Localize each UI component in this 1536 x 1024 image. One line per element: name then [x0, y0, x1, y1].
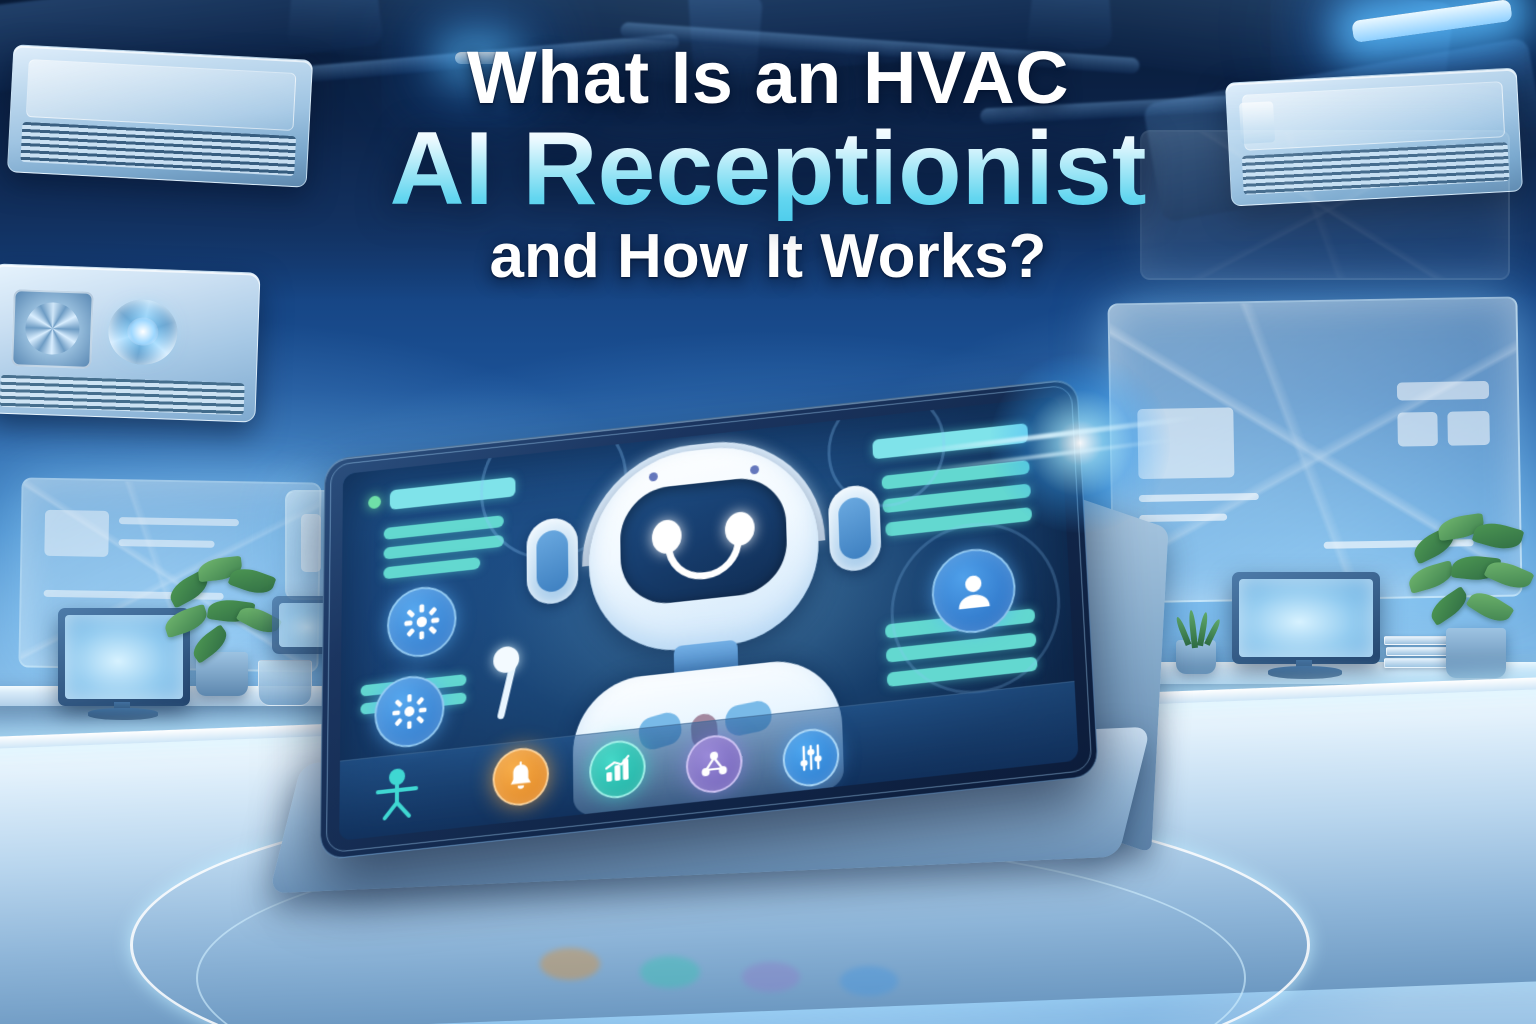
monitor-right: [1232, 572, 1380, 664]
icon-reflection: [640, 956, 700, 988]
icon-reflection: [742, 962, 800, 992]
monitor-base: [1268, 666, 1342, 679]
network-icon[interactable]: [685, 732, 743, 795]
robot-antenna: [487, 642, 543, 719]
leaf: [1426, 586, 1472, 626]
robot-face-screen: [620, 473, 788, 607]
analytics-icon[interactable]: [589, 738, 646, 801]
placeholder-line: [384, 535, 504, 560]
leaf: [1406, 560, 1456, 594]
icon-reflection: [840, 966, 898, 996]
headset-earcup-left: [526, 516, 578, 606]
plant-large-right: [1402, 512, 1536, 636]
online-dot: [368, 495, 381, 509]
ac-square-fan-icon: [11, 289, 93, 369]
settings-gear-icon-1[interactable]: [387, 583, 457, 660]
plant-left: [160, 552, 288, 662]
holo-block: [1397, 381, 1489, 401]
leaf: [1466, 586, 1515, 628]
plant-small-right: [1176, 610, 1224, 646]
holo-block: [1137, 407, 1234, 479]
ac-round-fan-icon: [107, 298, 178, 365]
icon-reflection: [540, 948, 600, 980]
placeholder-line: [383, 557, 480, 579]
tablet-screen[interactable]: [339, 396, 1079, 840]
tablet-device-group: [300, 415, 1120, 885]
holo-block: [44, 510, 109, 557]
banner-title-block: What Is an HVAC AI Receptionist and How …: [0, 40, 1536, 290]
title-line-1: What Is an HVAC: [0, 40, 1536, 115]
holo-block: [1397, 412, 1438, 447]
robot-smile: [665, 537, 743, 583]
leaf: [162, 604, 211, 639]
monitor-base: [88, 708, 158, 720]
person-glyph-icon: [368, 758, 427, 824]
monitor-screen: [1239, 579, 1373, 657]
hvac-ai-receptionist-banner: What Is an HVAC AI Receptionist and How …: [0, 0, 1536, 1024]
tablet-device[interactable]: [320, 378, 1099, 861]
headset-earcup-right: [828, 483, 882, 573]
leaf: [188, 624, 232, 664]
ac-grille: [0, 374, 245, 415]
call-alert-icon[interactable]: [493, 745, 550, 809]
robot-brow-dot: [649, 472, 658, 482]
robot-brow-dot: [750, 465, 759, 475]
title-line-2: AI Receptionist: [0, 117, 1536, 221]
holo-block: [1447, 411, 1490, 446]
title-line-3: and How It Works?: [0, 225, 1536, 289]
controls-icon[interactable]: [782, 726, 840, 789]
